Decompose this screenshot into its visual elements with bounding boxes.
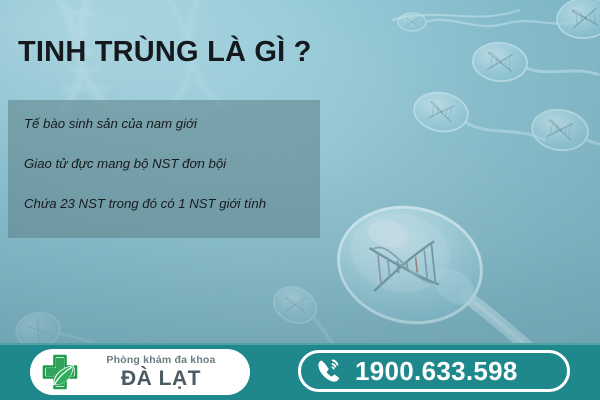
info-bullet: Giao tử đực mang bộ NST đơn bội <box>24 157 304 170</box>
poster-image: TINH TRÙNG LÀ GÌ ? Tế bào sinh sản của n… <box>0 0 600 400</box>
info-panel: Tế bào sinh sản của nam giới Giao tử đực… <box>8 100 320 238</box>
page-title: TINH TRÙNG LÀ GÌ ? <box>18 36 312 69</box>
clinic-text: Phòng khám đa khoa ĐÀ LẠT <box>80 355 250 389</box>
footer-top-edge <box>0 343 600 345</box>
phone-number: 1900.633.598 <box>355 356 518 387</box>
green-cross-leaf-icon <box>40 352 80 392</box>
clinic-name: ĐÀ LẠT <box>80 368 242 389</box>
info-bullet: Tế bào sinh sản của nam giới <box>24 117 304 130</box>
clinic-badge[interactable]: Phòng khám đa khoa ĐÀ LẠT <box>30 349 250 395</box>
clinic-subtitle: Phòng khám đa khoa <box>80 355 242 366</box>
info-bullet: Chứa 23 NST trong đó có 1 NST giới tính <box>24 197 304 210</box>
footer-bar: Phòng khám đa khoa ĐÀ LẠT 1900.633.598 <box>0 343 600 400</box>
ringing-phone-icon <box>315 357 343 385</box>
phone-button[interactable]: 1900.633.598 <box>298 350 570 392</box>
